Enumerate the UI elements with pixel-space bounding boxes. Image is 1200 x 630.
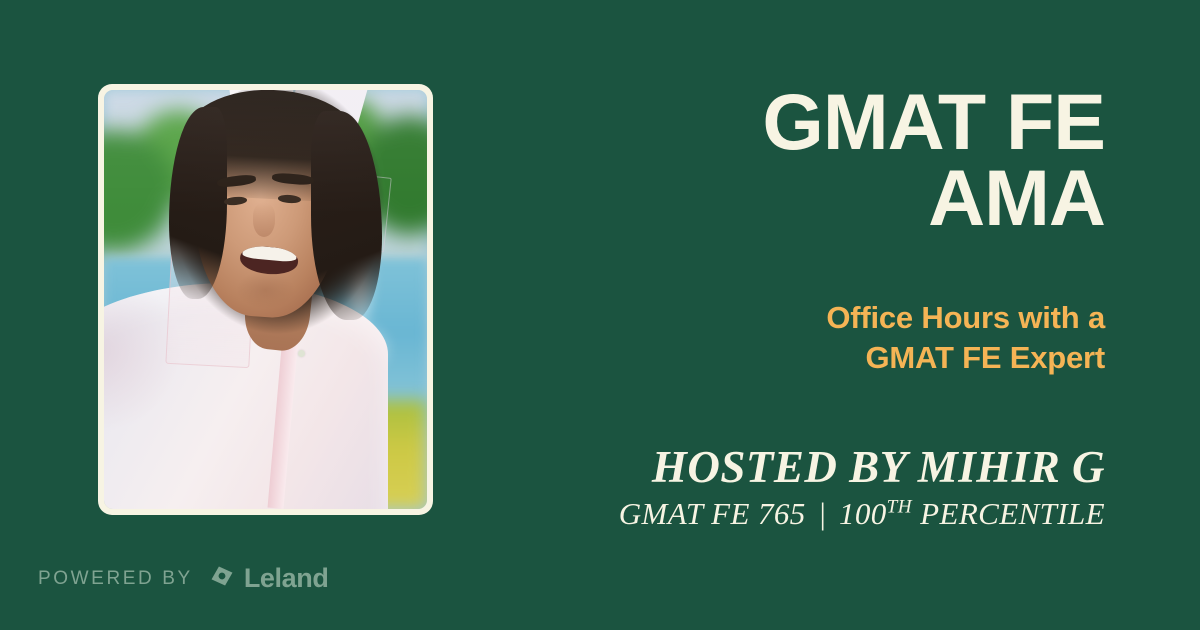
photo-nose	[253, 203, 276, 237]
subtitle-line-2: GMAT FE Expert	[485, 338, 1105, 378]
host-photo	[104, 90, 427, 509]
photo-chin-shadow	[227, 270, 305, 320]
credential-percentile-number: 100	[839, 496, 887, 531]
leland-diamond-icon	[207, 561, 237, 596]
credential-percentile-suffix: TH	[887, 496, 912, 517]
banner-subtitle: Office Hours with a GMAT FE Expert	[485, 298, 1105, 379]
host-photo-frame	[98, 84, 433, 515]
credential-divider: |	[814, 496, 831, 531]
headline-line-1: GMAT FE	[485, 84, 1105, 160]
headline-line-2: AMA	[485, 160, 1105, 236]
leland-wordmark: Leland	[244, 563, 329, 594]
leland-logo[interactable]: Leland	[207, 561, 329, 596]
photo-shirt-button	[298, 350, 305, 357]
page-title: GMAT FE AMA	[485, 84, 1105, 236]
promo-banner: GMAT FE AMA Office Hours with a GMAT FE …	[0, 0, 1200, 630]
subtitle-line-1: Office Hours with a	[485, 298, 1105, 338]
host-credential: GMAT FE 765 | 100TH PERCENTILE	[485, 496, 1105, 532]
powered-by-label: POWERED BY	[38, 568, 193, 590]
banner-text-column: GMAT FE AMA Office Hours with a GMAT FE …	[485, 84, 1105, 531]
credential-percentile-word: PERCENTILE	[920, 496, 1105, 531]
powered-by-footer: POWERED BY Leland	[38, 561, 328, 596]
credential-score: GMAT FE 765	[619, 496, 806, 531]
host-name: HOSTED BY MIHIR G	[485, 444, 1105, 491]
